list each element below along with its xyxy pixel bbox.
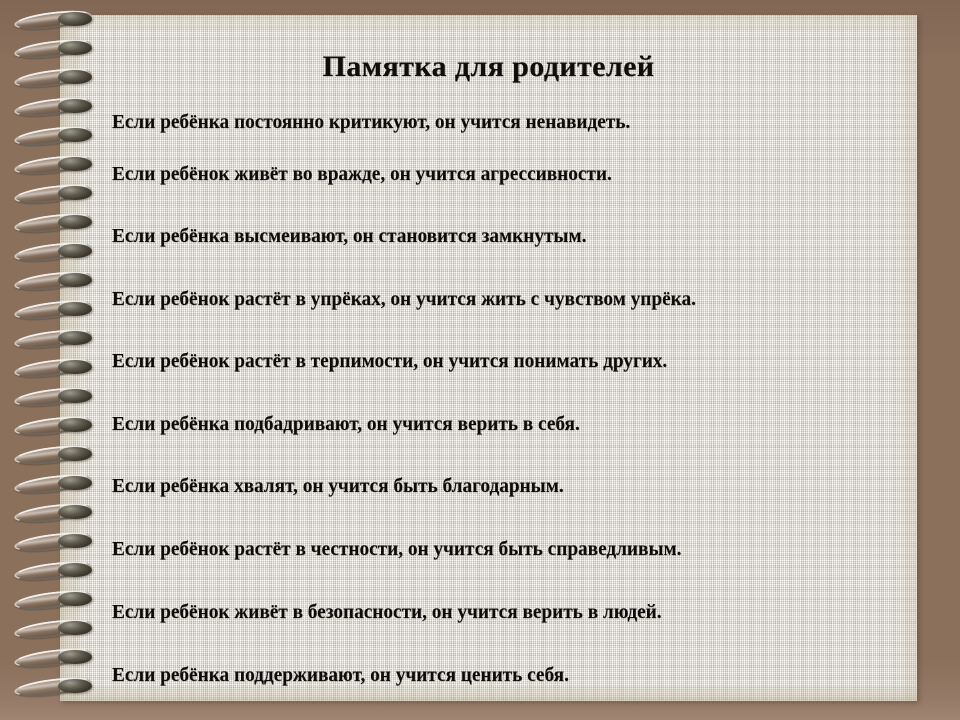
advice-line: Если ребёнка хвалят, он учится быть благ… <box>112 475 864 497</box>
poster-content: Памятка для родителей Если ребёнка посто… <box>60 15 917 701</box>
advice-line: Если ребёнка поддерживают, он учится цен… <box>112 664 864 686</box>
advice-line: Если ребёнка высмеивают, он становится з… <box>112 225 864 247</box>
advice-line: Если ребёнка постоянно критикуют, он учи… <box>112 111 864 133</box>
page-title: Памятка для родителей <box>60 50 917 84</box>
advice-line: Если ребёнок растёт в терпимости, он учи… <box>112 350 864 372</box>
advice-line: Если ребёнок растёт в честности, он учит… <box>112 538 864 560</box>
notebook-poster: Памятка для родителей Если ребёнка посто… <box>0 0 960 720</box>
advice-line: Если ребёнок живёт во вражде, он учится … <box>112 163 864 185</box>
advice-line: Если ребёнка подбадривают, он учится вер… <box>112 413 864 435</box>
advice-line: Если ребёнок растёт в упрёках, он учится… <box>112 288 864 310</box>
advice-line: Если ребёнок живёт в безопасности, он уч… <box>112 601 864 623</box>
